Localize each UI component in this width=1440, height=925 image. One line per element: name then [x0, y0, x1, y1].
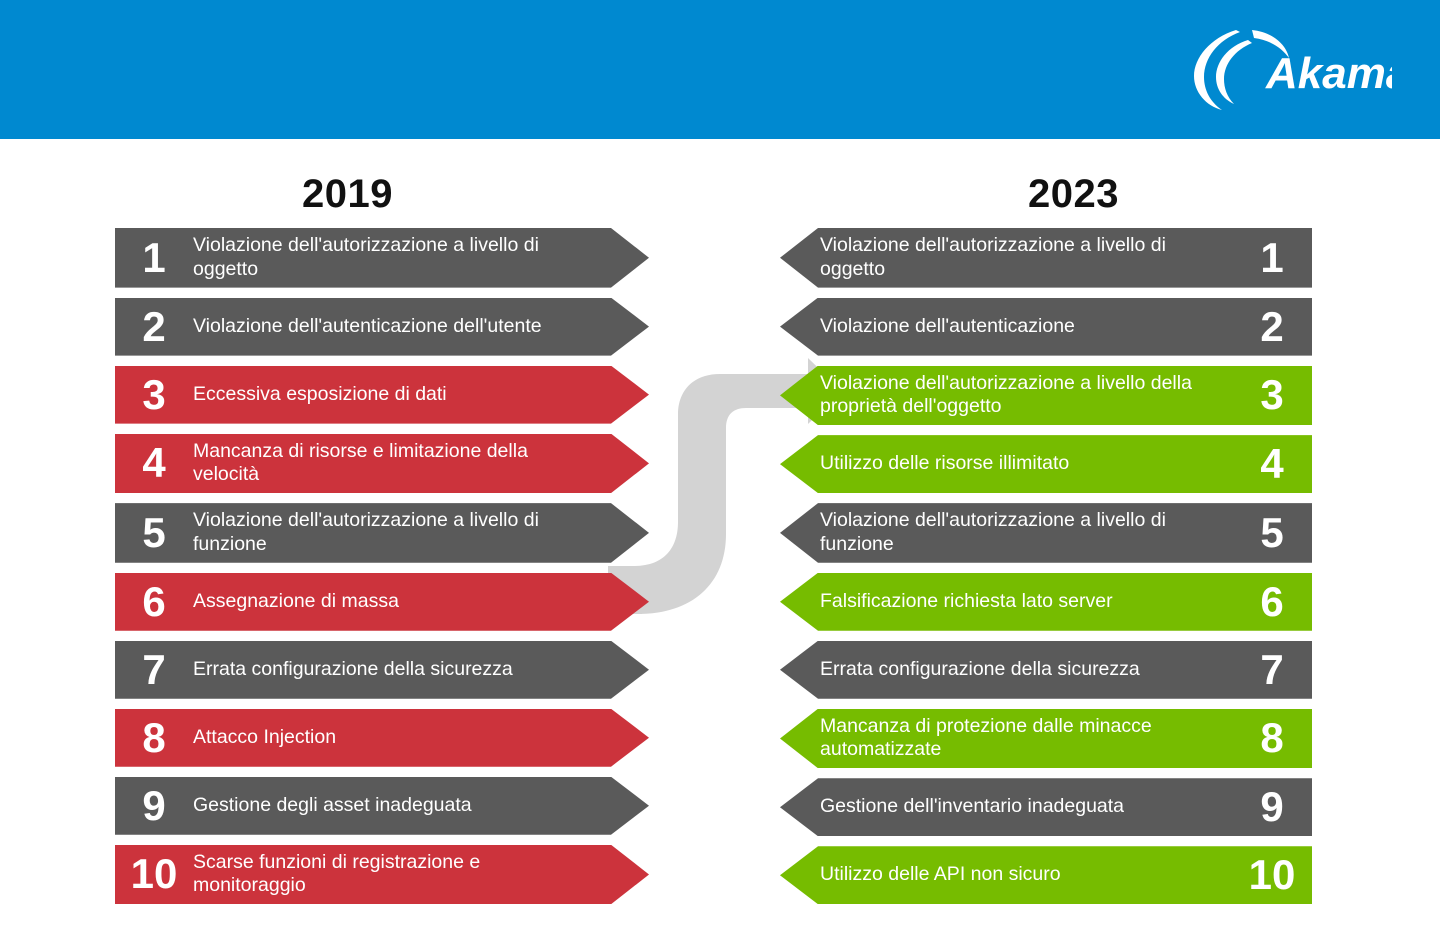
list-item[interactable]: 7 Errata configurazione della sicurezza [115, 641, 649, 699]
item-label: Falsificazione richiesta lato server [820, 590, 1236, 614]
item-label: Utilizzo delle risorse illimitato [820, 452, 1236, 476]
list-item[interactable]: 3 Eccessiva esposizione di dati [115, 366, 649, 424]
item-label: Violazione dell'autenticazione dell'uten… [193, 315, 603, 339]
list-item[interactable]: 5 Violazione dell'autorizzazione a livel… [115, 503, 649, 563]
rank-number: 2 [1236, 306, 1308, 348]
item-label: Assegnazione di massa [193, 590, 603, 614]
item-label: Errata configurazione della sicurezza [193, 658, 603, 682]
infographic-canvas: Akamai 2019 2023 1 Violazione dell'autor… [0, 0, 1440, 925]
column-2023: Violazione dell'autorizzazione a livello… [780, 228, 1312, 914]
item-label: Mancanza di risorse e limitazione della … [193, 440, 603, 488]
list-item[interactable]: Violazione dell'autorizzazione a livello… [780, 366, 1312, 426]
rank-number: 9 [1236, 786, 1308, 828]
item-label: Utilizzo delle API non sicuro [820, 863, 1236, 887]
item-label: Scarse funzioni di registrazione e monit… [193, 851, 603, 899]
list-item[interactable]: 6 Assegnazione di massa [115, 573, 649, 631]
rank-number: 7 [1236, 649, 1308, 691]
list-item[interactable]: Errata configurazione della sicurezza 7 [780, 641, 1312, 699]
list-item[interactable]: Violazione dell'autorizzazione a livello… [780, 228, 1312, 288]
list-item[interactable]: 8 Attacco Injection [115, 709, 649, 767]
list-item[interactable]: Utilizzo delle risorse illimitato 4 [780, 435, 1312, 493]
item-label: Violazione dell'autorizzazione a livello… [193, 234, 603, 282]
rank-number: 10 [115, 853, 193, 895]
item-label: Violazione dell'autorizzazione a livello… [820, 234, 1236, 282]
rank-number: 7 [115, 649, 193, 691]
list-item[interactable]: Mancanza di protezione dalle minacce aut… [780, 709, 1312, 769]
rank-number: 10 [1236, 854, 1308, 896]
item-label: Violazione dell'autorizzazione a livello… [193, 509, 603, 557]
logo-wordmark: Akamai [1265, 49, 1392, 98]
item-label: Eccessiva esposizione di dati [193, 383, 603, 407]
rank-number: 3 [115, 374, 193, 416]
item-label: Violazione dell'autorizzazione a livello… [820, 372, 1236, 420]
column-2019: 1 Violazione dell'autorizzazione a livel… [115, 228, 649, 914]
header-bar: Akamai [0, 0, 1440, 139]
list-item[interactable]: 2 Violazione dell'autenticazione dell'ut… [115, 298, 649, 356]
column-title-2019: 2019 [302, 172, 393, 217]
rank-number: 8 [115, 717, 193, 759]
item-label: Attacco Injection [193, 726, 603, 750]
rank-number: 4 [1236, 443, 1308, 485]
rank-number: 1 [1236, 237, 1308, 279]
list-item[interactable]: Violazione dell'autenticazione 2 [780, 298, 1312, 356]
rank-number: 4 [115, 442, 193, 484]
akamai-logo: Akamai [1192, 26, 1392, 112]
item-label: Mancanza di protezione dalle minacce aut… [820, 715, 1236, 763]
list-item[interactable]: 10 Scarse funzioni di registrazione e mo… [115, 845, 649, 905]
list-item[interactable]: 9 Gestione degli asset inadeguata [115, 777, 649, 835]
item-label: Gestione dell'inventario inadeguata [820, 795, 1236, 819]
list-item[interactable]: 4 Mancanza di risorse e limitazione dell… [115, 434, 649, 494]
column-title-2023: 2023 [1028, 172, 1119, 217]
rank-number: 3 [1236, 374, 1308, 416]
item-label: Gestione degli asset inadeguata [193, 794, 603, 818]
item-label: Errata configurazione della sicurezza [820, 658, 1236, 682]
list-item[interactable]: Utilizzo delle API non sicuro 10 [780, 846, 1312, 904]
rank-number: 6 [115, 581, 193, 623]
item-label: Violazione dell'autorizzazione a livello… [820, 509, 1236, 557]
rank-number: 2 [115, 306, 193, 348]
list-item[interactable]: Gestione dell'inventario inadeguata 9 [780, 778, 1312, 836]
list-item[interactable]: 1 Violazione dell'autorizzazione a livel… [115, 228, 649, 288]
list-item[interactable]: Falsificazione richiesta lato server 6 [780, 573, 1312, 631]
rank-number: 6 [1236, 581, 1308, 623]
rank-number: 1 [115, 237, 193, 279]
list-item[interactable]: Violazione dell'autorizzazione a livello… [780, 503, 1312, 563]
rank-number: 8 [1236, 717, 1308, 759]
item-label: Violazione dell'autenticazione [820, 315, 1236, 339]
rank-number: 5 [1236, 512, 1308, 554]
rank-number: 5 [115, 512, 193, 554]
rank-number: 9 [115, 785, 193, 827]
